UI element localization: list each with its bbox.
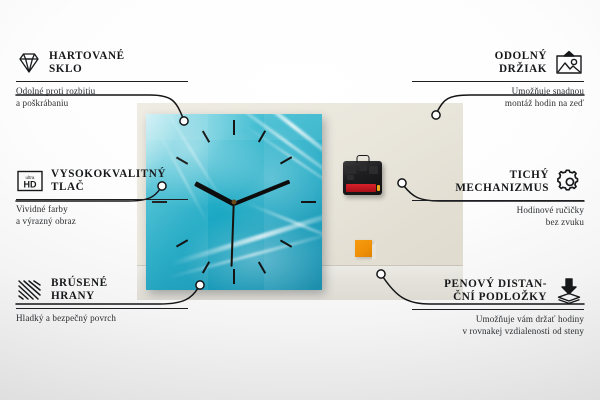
feature-divider bbox=[412, 200, 584, 201]
feature-header: ultra HD VYSOKOKVALITNÝ TLAČ bbox=[16, 168, 188, 195]
feature-title: BRÚSENÉ HRANY bbox=[51, 277, 108, 304]
feature-title-line1: TICHÝ bbox=[455, 169, 549, 182]
feature-title: PENOVÝ DISTAN- ČNÍ PODLOŽKY bbox=[444, 278, 547, 305]
infographic-canvas: HARTOVANÉ SKLO Odolné proti rozbitiu a p… bbox=[0, 0, 600, 400]
feature-title-line1: ODOLNÝ bbox=[495, 50, 547, 63]
feature-desc-line1: Umožňuje snadnou bbox=[412, 86, 584, 98]
feature-title: ODOLNÝ DRŽIAK bbox=[495, 50, 547, 77]
feature-divider bbox=[16, 199, 188, 200]
feature-divider bbox=[412, 309, 584, 310]
feature-desc-line1: Odolné proti rozbitiu bbox=[16, 86, 188, 98]
feature-title-line2: HRANY bbox=[51, 290, 108, 303]
feature-title: VYSOKOKVALITNÝ TLAČ bbox=[51, 168, 166, 195]
feature-title-line1: VYSOKOKVALITNÝ bbox=[51, 168, 166, 181]
feature-title: HARTOVANÉ SKLO bbox=[49, 50, 125, 77]
feature-description: Umožňuje snadnou montáž hodin na zeď bbox=[412, 86, 584, 109]
mechanism-slot-2 bbox=[359, 165, 367, 171]
feature-header: HARTOVANÉ SKLO bbox=[16, 50, 188, 77]
feature-description: Odolné proti rozbitiu a poškrábaniu bbox=[16, 86, 188, 109]
foam-spacer-side bbox=[372, 241, 376, 261]
mechanism-slot-4 bbox=[347, 175, 354, 180]
mechanism-battery bbox=[346, 184, 376, 192]
feature-title-line2: SKLO bbox=[49, 63, 125, 76]
mechanism-slot-1 bbox=[346, 166, 356, 174]
feature-divider bbox=[16, 81, 188, 82]
feature-header: ODOLNÝ DRŽIAK bbox=[412, 50, 584, 77]
feature-title-line1: BRÚSENÉ bbox=[51, 277, 108, 290]
picture-frame-icon bbox=[554, 50, 584, 76]
feature-tempered-glass: HARTOVANÉ SKLO Odolné proti rozbitiu a p… bbox=[16, 50, 188, 109]
feature-desc-line2: a výrazný obraz bbox=[16, 216, 188, 228]
mechanism-hanger-icon bbox=[356, 155, 369, 163]
feature-description: Vividné farby a výrazný obraz bbox=[16, 204, 188, 227]
feature-title-line1: HARTOVANÉ bbox=[49, 50, 125, 63]
hatch-lines-icon bbox=[16, 278, 44, 302]
feature-title-line2: TLAČ bbox=[51, 181, 166, 194]
feature-silent-mechanism: TICHÝ MECHANIZMUS Hodinové ručičky bez z… bbox=[412, 169, 584, 228]
feature-title-line2: MECHANIZMUS bbox=[455, 182, 549, 195]
diamond-icon bbox=[16, 51, 42, 75]
feature-desc-line2: a poškrábaniu bbox=[16, 98, 188, 110]
feature-desc-line1: Umožňuje vám držať hodiny bbox=[412, 314, 584, 326]
feature-desc-line1: Vividné farby bbox=[16, 204, 188, 216]
feature-foam-spacers: PENOVÝ DISTAN- ČNÍ PODLOŽKY Umožňuje vám… bbox=[412, 277, 584, 337]
feature-desc-line1: Hladký a bezpečný povrch bbox=[16, 313, 188, 325]
mechanism-battery-terminal bbox=[377, 185, 380, 191]
feature-description: Hodinové ručičky bez zvuku bbox=[412, 205, 584, 228]
feature-header: PENOVÝ DISTAN- ČNÍ PODLOŽKY bbox=[412, 277, 584, 305]
foam-spacer-pad bbox=[355, 240, 372, 257]
feature-title-line2: DRŽIAK bbox=[495, 63, 547, 76]
arrow-layers-icon bbox=[554, 277, 584, 305]
feature-description: Umožňuje vám držať hodiny v rovnakej vzd… bbox=[412, 314, 584, 337]
feature-divider bbox=[412, 81, 584, 82]
mechanism-slot-3 bbox=[369, 166, 378, 174]
feature-desc-line2: bez zvuku bbox=[412, 217, 584, 229]
feature-divider bbox=[16, 308, 188, 309]
feature-desc-line2: montáž hodin na zeď bbox=[412, 98, 584, 110]
feature-desc-line1: Hodinové ručičky bbox=[412, 205, 584, 217]
clock-mechanism bbox=[343, 161, 382, 195]
ultra-hd-icon-main-label: HD bbox=[24, 180, 37, 190]
feature-durable-holder: ODOLNÝ DRŽIAK Umožňuje snadnou montáž ho… bbox=[412, 50, 584, 109]
ultra-hd-icon: ultra HD bbox=[16, 169, 44, 193]
feature-high-quality-print: ultra HD VYSOKOKVALITNÝ TLAČ Vividné far… bbox=[16, 168, 188, 227]
feature-description: Hladký a bezpečný povrch bbox=[16, 313, 188, 325]
feature-title-line2: ČNÍ PODLOŽKY bbox=[444, 291, 547, 304]
gear-icon bbox=[556, 169, 584, 195]
feature-title-line1: PENOVÝ DISTAN- bbox=[444, 278, 547, 291]
feature-title: TICHÝ MECHANIZMUS bbox=[455, 169, 549, 196]
feature-polished-edges: BRÚSENÉ HRANY Hladký a bezpečný povrch bbox=[16, 277, 188, 325]
feature-desc-line2: v rovnakej vzdialenosti od steny bbox=[412, 326, 584, 338]
feature-header: BRÚSENÉ HRANY bbox=[16, 277, 188, 304]
feature-header: TICHÝ MECHANIZMUS bbox=[412, 169, 584, 196]
